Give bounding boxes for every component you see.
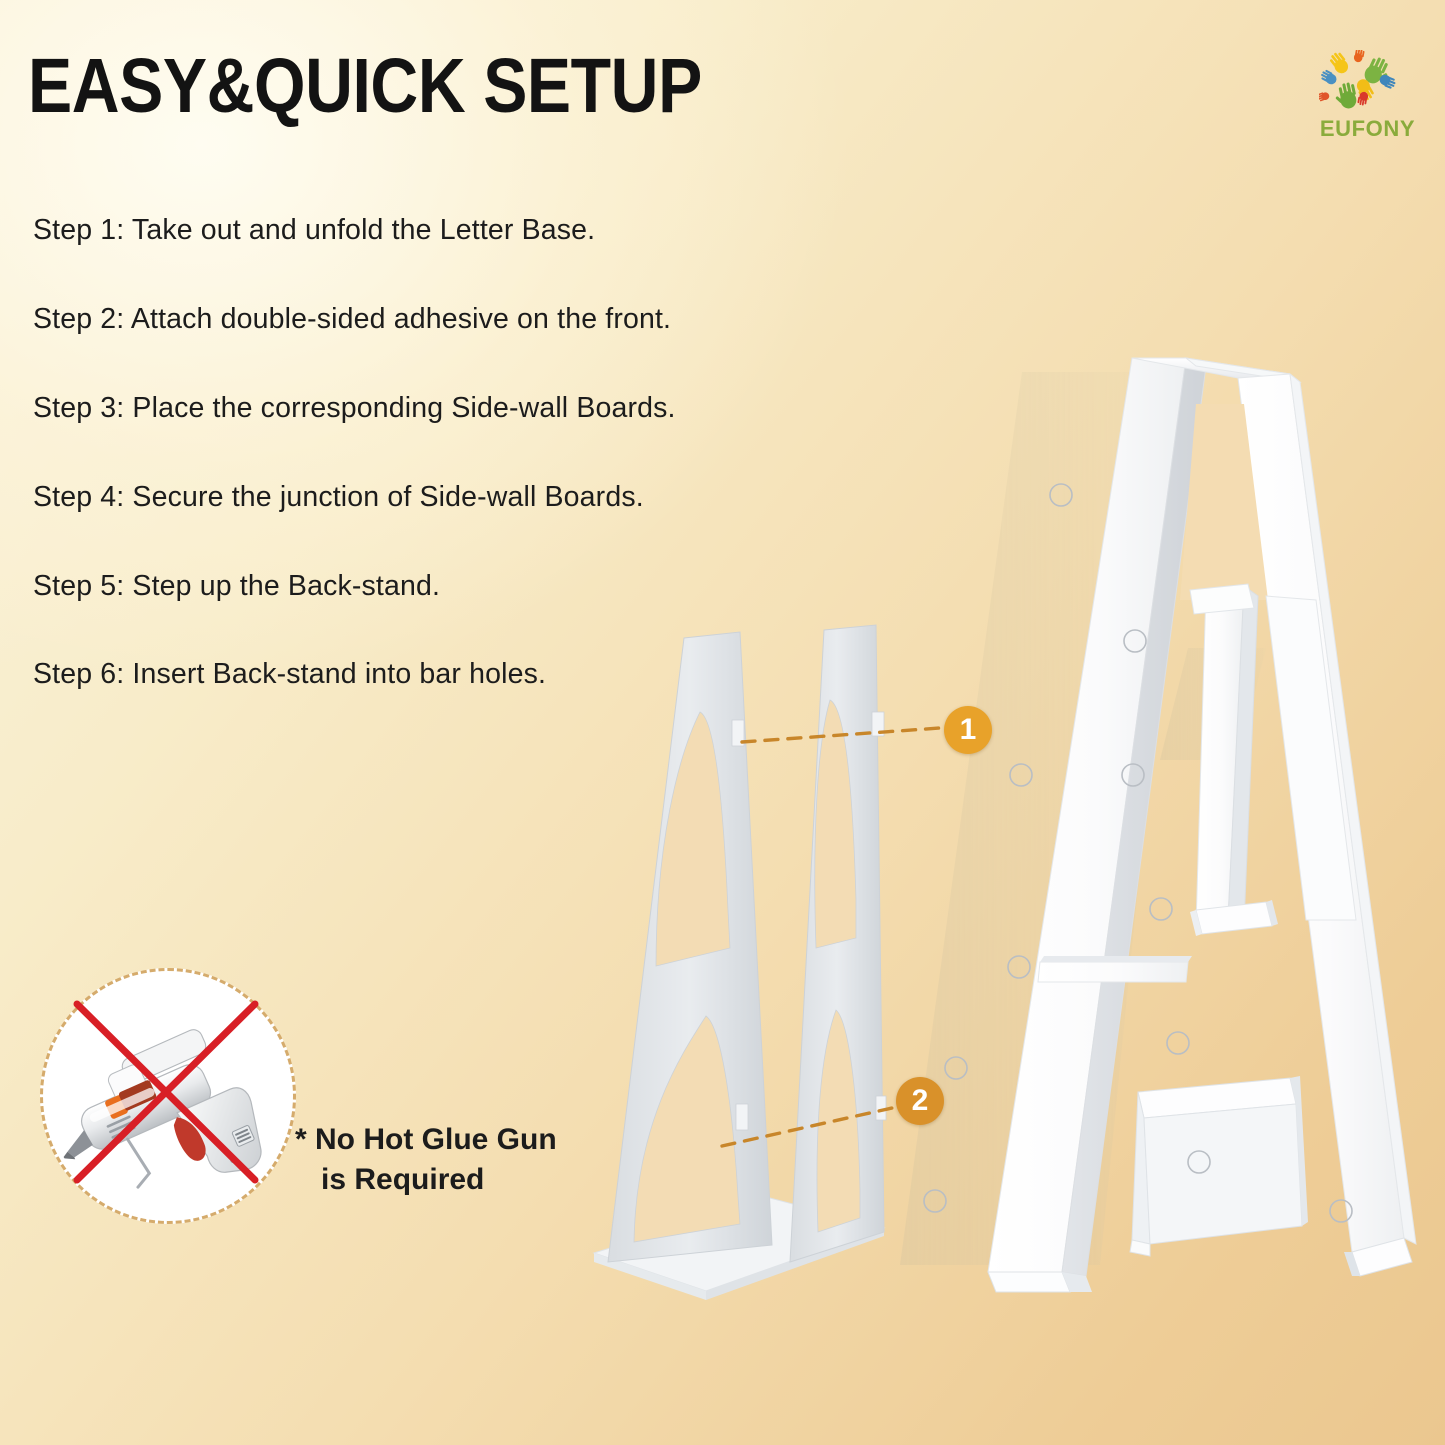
callout-2-connector [722, 1108, 892, 1146]
notice-line-2: is Required [295, 1160, 595, 1200]
no-glue-gun-notice: * No Hot Glue Gun is Required [40, 968, 600, 1218]
step-4: Step 4: Secure the junction of Side-wall… [33, 479, 753, 517]
callout-badge-1: 1 [944, 706, 992, 754]
letter-a-shell [924, 358, 1416, 1292]
letter-a-inner-wedge [1196, 586, 1258, 926]
glue-gun-prohibited-icon [40, 968, 290, 1218]
letter-a-counter-upper [1180, 404, 1268, 600]
brand-logo: EUFONY [1305, 50, 1430, 155]
back-stand-base [594, 1198, 884, 1300]
letter-a-crossbar-left [1038, 956, 1192, 982]
handprints-circle-icon [1319, 50, 1415, 118]
step-6: Step 6: Insert Back-stand into bar holes… [33, 656, 753, 694]
step-2: Step 2: Attach double-sided adhesive on … [33, 301, 753, 339]
page-title: EASY&QUICK SETUP [28, 48, 702, 125]
instruction-page: EASY&QUICK SETUP [0, 0, 1445, 1445]
letter-a-lower-bracket [1130, 1076, 1308, 1256]
callout-badge-2: 2 [896, 1077, 944, 1125]
step-5: Step 5: Step up the Back-stand. [33, 568, 753, 606]
step-3: Step 3: Place the corresponding Side-wal… [33, 390, 753, 428]
letter-a-left-leg-bottom [988, 1272, 1092, 1292]
back-stand-board-front [608, 632, 772, 1262]
steps-list: Step 1: Take out and unfold the Letter B… [33, 212, 753, 694]
bar-holes [924, 484, 1352, 1222]
notice-line-1: * No Hot Glue Gun [295, 1123, 557, 1156]
letter-a-inner-right-upright [1266, 596, 1356, 920]
letter-a-right-leg-bottom [1344, 1238, 1412, 1276]
back-stand-board-rear [790, 625, 886, 1262]
letter-a-mid-bracket [1190, 900, 1278, 936]
notice-text: * No Hot Glue Gun is Required [295, 1120, 595, 1199]
brand-name: EUFONY [1305, 116, 1430, 142]
letter-a-shadow [900, 372, 1266, 1265]
step-1: Step 1: Take out and unfold the Letter B… [33, 212, 753, 250]
callout-1-connector [742, 728, 940, 742]
back-stand [594, 625, 886, 1300]
letter-a-top-bracket [1190, 584, 1254, 614]
